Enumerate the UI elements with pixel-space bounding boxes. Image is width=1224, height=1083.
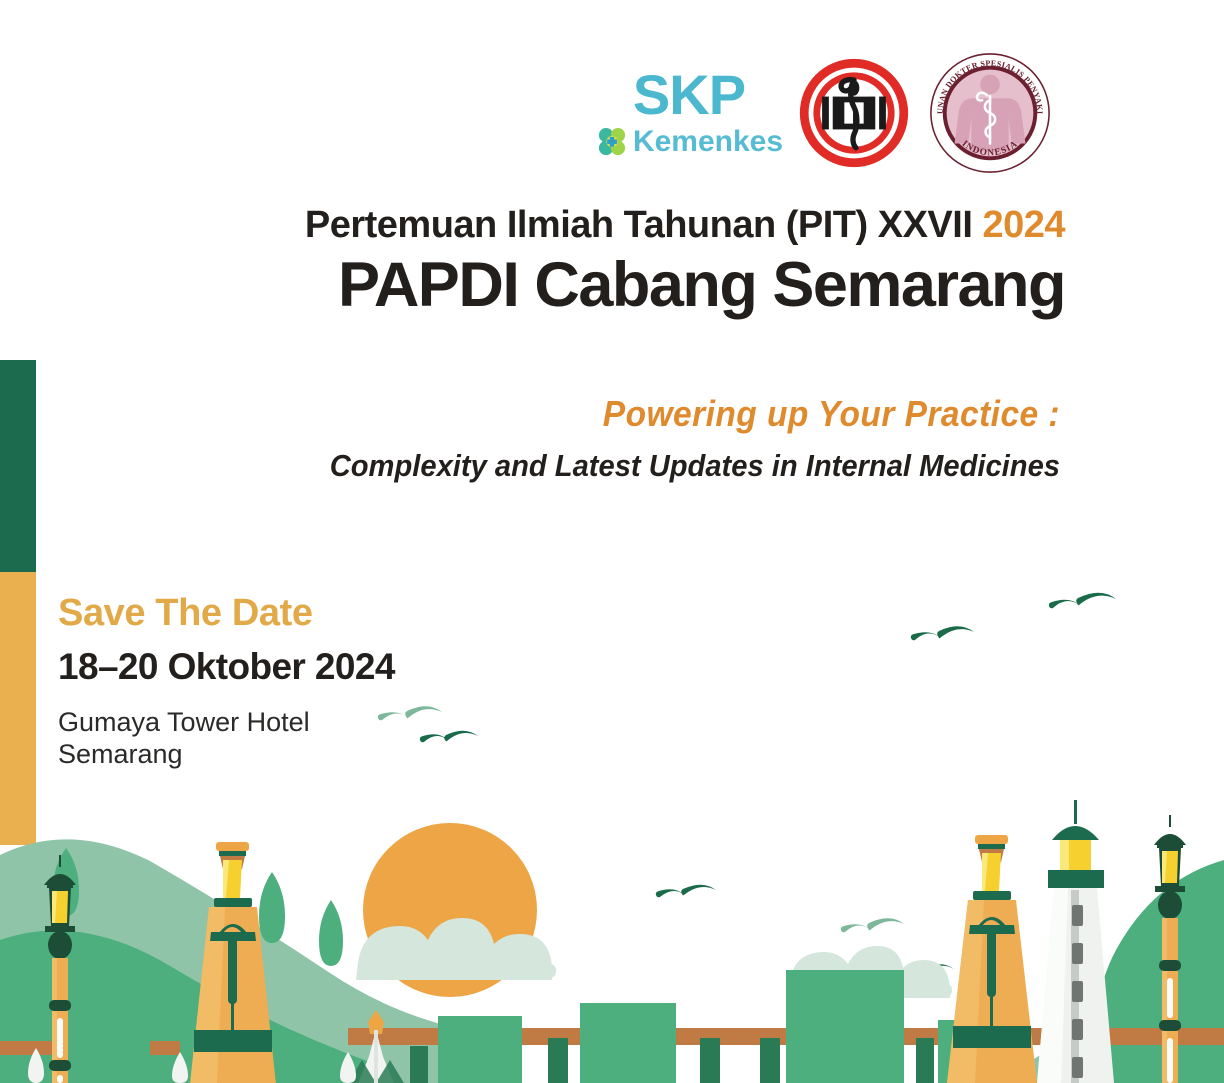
lighthouse: [1037, 800, 1114, 1083]
bird-icon: [420, 731, 478, 743]
skp-kemenkes-logo: SKP Kemenkes: [596, 53, 782, 173]
logo-row: SKP Kemenkes: [596, 40, 1076, 185]
bird-icon: [378, 706, 442, 720]
bird-icon: [911, 626, 974, 640]
bird-icon: [656, 885, 716, 898]
kemenkes-flower-icon: [595, 125, 629, 159]
poster-title: Pertemuan Ilmiah Tahunan (PIT) XXVII 202…: [0, 204, 1065, 320]
skp-wordmark: SKP: [633, 67, 745, 123]
idi-logo: [796, 55, 912, 171]
semarang-skyline-illustration: [0, 560, 1224, 1083]
title-line-1: Pertemuan Ilmiah Tahunan (PIT) XXVII 202…: [0, 204, 1065, 248]
bird-icon: [841, 918, 904, 932]
accent-bar-green: [0, 360, 36, 572]
poster-tagline: Powering up Your Practice : Complexity a…: [0, 392, 1060, 486]
title-line-1-main: Pertemuan Ilmiah Tahunan (PIT) XXVII: [305, 204, 983, 246]
title-year: 2024: [982, 204, 1065, 246]
tagline-line-1: Powering up Your Practice :: [74, 392, 1060, 435]
event-poster: SKP Kemenkes: [0, 0, 1224, 1083]
lamp-tower: [947, 835, 1037, 1083]
title-line-2: PAPDI Cabang Semarang: [0, 250, 1065, 321]
bird-icon: [1049, 593, 1116, 609]
papdi-logo: PERHIMPUNAN DOKTER SPESIALIS PENYAKIT DA…: [926, 49, 1054, 177]
tagline-line-2: Complexity and Latest Updates in Interna…: [64, 447, 1060, 486]
kemenkes-wordmark: Kemenkes: [633, 127, 783, 157]
